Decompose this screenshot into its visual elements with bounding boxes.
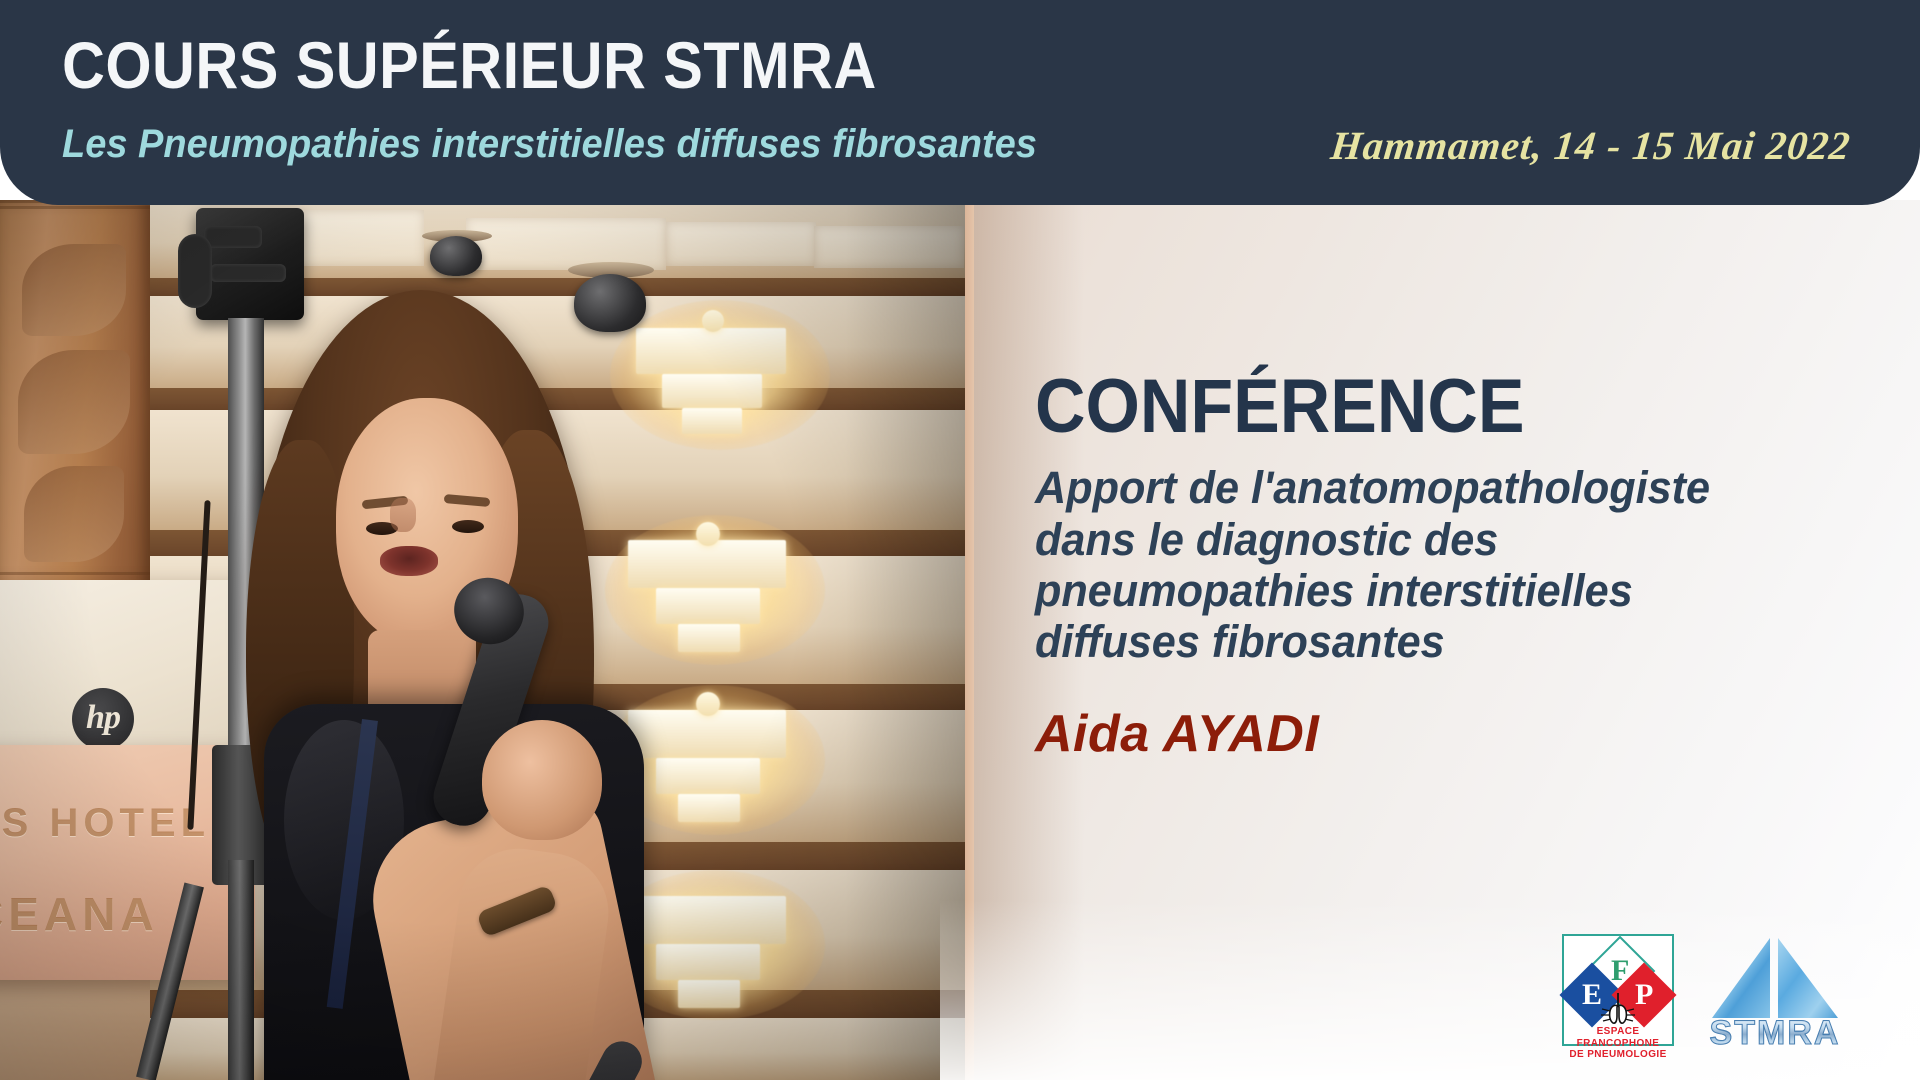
mouth bbox=[380, 546, 438, 576]
conference-title: Apport de l'anatomopathologiste dans le … bbox=[1035, 462, 1861, 667]
hp-logo bbox=[72, 688, 134, 750]
stmra-sail-icon bbox=[1708, 936, 1842, 1022]
stmra-wordmark: STMRA bbox=[1702, 1014, 1848, 1053]
conference-title-line-1: Apport de l'anatomopathologiste bbox=[1035, 462, 1861, 513]
efp-logo: F E P ESPACE FRANCOPHONE DE PNEUMOLOGIE bbox=[1558, 930, 1678, 1058]
lungs-icon bbox=[1594, 990, 1642, 1026]
event-subtitle: Les Pneumopathies interstitielles diffus… bbox=[62, 124, 1037, 164]
stmra-logo: STMRA bbox=[1702, 930, 1848, 1058]
ceiling-dome bbox=[430, 236, 482, 276]
conference-title-line-4: diffuses fibrosantes bbox=[1035, 616, 1861, 667]
efp-caption-line-2: DE PNEUMOLOGIE bbox=[1558, 1049, 1678, 1061]
conference-block: CONFÉRENCE Apport de l'anatomopathologis… bbox=[1035, 370, 1895, 760]
efp-caption: ESPACE FRANCOPHONE DE PNEUMOLOGIE bbox=[1558, 1026, 1678, 1061]
nose bbox=[390, 498, 416, 532]
wall-panel bbox=[466, 218, 666, 270]
poster-header: COURS SUPÉRIEUR STMRA Les Pneumopathies … bbox=[0, 0, 1920, 205]
efp-caption-line-1: ESPACE FRANCOPHONE bbox=[1558, 1026, 1678, 1049]
poster-canvas: ES HOTEL CEANA bbox=[0, 0, 1920, 1080]
event-date-location: Hammamet, 14 - 15 Mai 2022 bbox=[1329, 126, 1853, 166]
wall-panel bbox=[666, 222, 816, 266]
event-title: COURS SUPÉRIEUR STMRA bbox=[62, 32, 877, 98]
speaker-name: Aida AYADI bbox=[1035, 708, 1895, 760]
carved-wood-column bbox=[0, 200, 150, 640]
logo-row: F E P ESPACE FRANCOPHONE DE PNEUMOLOGIE bbox=[1558, 930, 1848, 1058]
conference-title-line-2: dans le diagnostic des bbox=[1035, 514, 1861, 565]
hand-holding-mic bbox=[482, 720, 602, 840]
speaker-photo: ES HOTEL CEANA bbox=[0, 200, 965, 1080]
speaker-person bbox=[240, 290, 710, 1080]
conference-heading: CONFÉRENCE bbox=[1035, 370, 1826, 444]
conference-title-line-3: pneumopathies interstitielles bbox=[1035, 565, 1861, 616]
